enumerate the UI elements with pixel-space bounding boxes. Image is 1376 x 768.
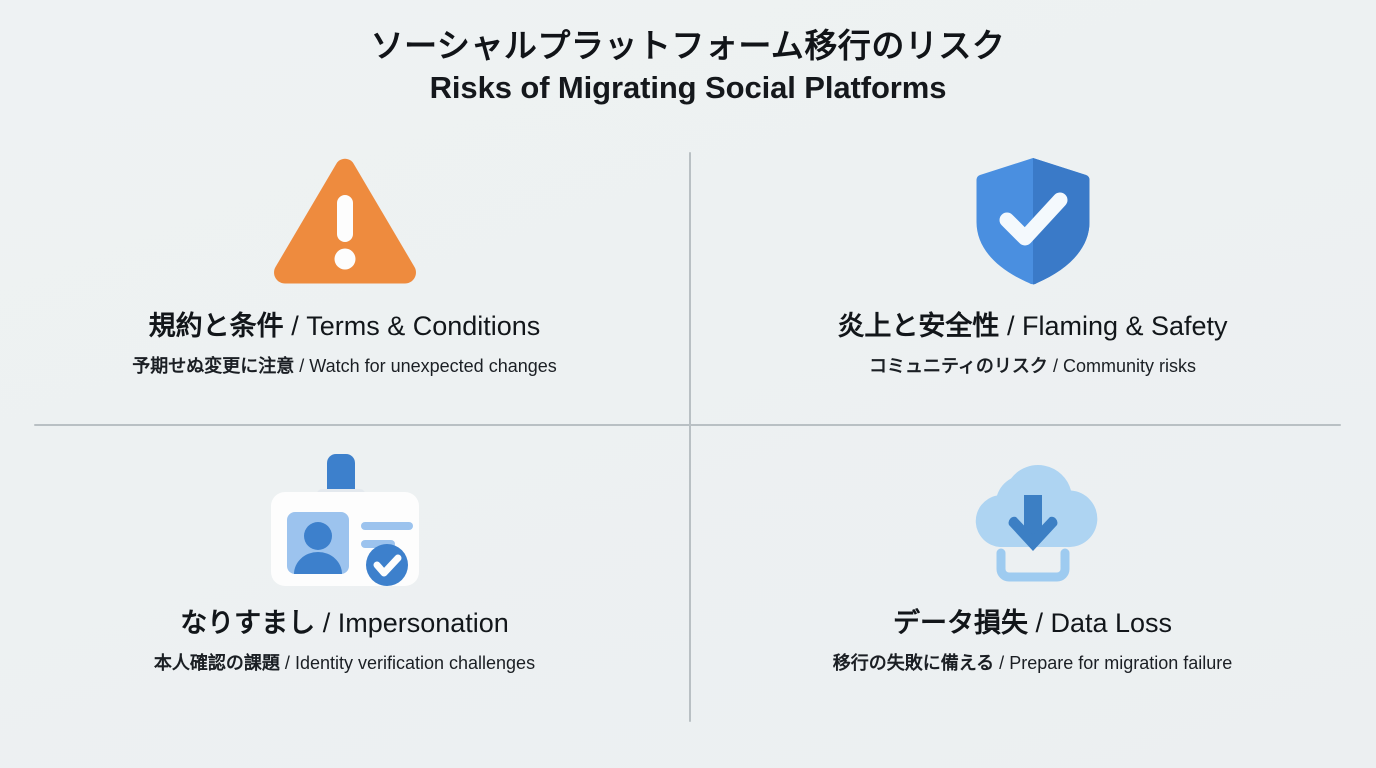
subheading-english: Community risks	[1063, 356, 1196, 376]
subheading-separator: /	[1048, 356, 1063, 376]
heading-separator: /	[1028, 608, 1051, 638]
subheading-japanese: コミュニティのリスク	[869, 356, 1048, 376]
subheading-japanese: 移行の失敗に備える	[833, 653, 994, 673]
heading-separator: /	[284, 311, 307, 341]
quadrant-terms-and-conditions: 規約と条件 / Terms & Conditions 予期せぬ変更に注意 / W…	[0, 140, 689, 425]
heading-japanese: なりすまし	[180, 608, 315, 638]
subheading-japanese: 本人確認の課題	[154, 653, 280, 673]
heading-english: Flaming & Safety	[1022, 311, 1228, 341]
heading-english: Impersonation	[338, 608, 509, 638]
subheading-japanese: 予期せぬ変更に注意	[132, 356, 294, 376]
quadrant-heading: なりすまし / Impersonation	[180, 607, 509, 639]
subheading-separator: /	[994, 653, 1009, 673]
quadrant-subheading: コミュニティのリスク / Community risks	[869, 355, 1196, 378]
subheading-english: Watch for unexpected changes	[309, 356, 556, 376]
quadrant-grid: 規約と条件 / Terms & Conditions 予期せぬ変更に注意 / W…	[0, 140, 1376, 760]
heading-japanese: 規約と条件	[149, 311, 284, 341]
slide-root: ソーシャルプラットフォーム移行のリスク Risks of Migrating S…	[0, 0, 1376, 768]
quadrant-impersonation: なりすまし / Impersonation 本人確認の課題 / Identity…	[0, 425, 689, 725]
heading-english: Terms & Conditions	[306, 311, 540, 341]
quadrant-data-loss: データ損失 / Data Loss 移行の失敗に備える / Prepare fo…	[689, 425, 1376, 725]
subheading-separator: /	[294, 356, 309, 376]
quadrant-heading: 炎上と安全性 / Flaming & Safety	[837, 310, 1227, 342]
heading-separator: /	[315, 608, 338, 638]
subheading-english: Identity verification challenges	[295, 653, 535, 673]
cloud-download-icon	[957, 447, 1109, 593]
title-block: ソーシャルプラットフォーム移行のリスク Risks of Migrating S…	[0, 26, 1376, 108]
subheading-separator: /	[280, 653, 295, 673]
quadrant-subheading: 予期せぬ変更に注意 / Watch for unexpected changes	[132, 355, 557, 378]
heading-japanese: データ損失	[893, 608, 1028, 638]
heading-english: Data Loss	[1050, 608, 1172, 638]
quadrant-heading: 規約と条件 / Terms & Conditions	[149, 310, 541, 342]
heading-japanese: 炎上と安全性	[837, 311, 999, 341]
quadrant-heading: データ損失 / Data Loss	[893, 607, 1172, 639]
quadrant-subheading: 移行の失敗に備える / Prepare for migration failur…	[833, 652, 1233, 675]
heading-separator: /	[999, 311, 1022, 341]
subheading-english: Prepare for migration failure	[1009, 653, 1232, 673]
quadrant-flaming-and-safety: 炎上と安全性 / Flaming & Safety コミュニティのリスク / C…	[689, 140, 1376, 425]
id-badge-verified-icon	[265, 447, 425, 593]
warning-triangle-icon	[270, 146, 420, 296]
shield-check-icon	[972, 146, 1094, 296]
quadrant-subheading: 本人確認の課題 / Identity verification challeng…	[154, 652, 535, 675]
page-title-japanese: ソーシャルプラットフォーム移行のリスク	[0, 26, 1376, 66]
page-title-english: Risks of Migrating Social Platforms	[0, 69, 1376, 108]
